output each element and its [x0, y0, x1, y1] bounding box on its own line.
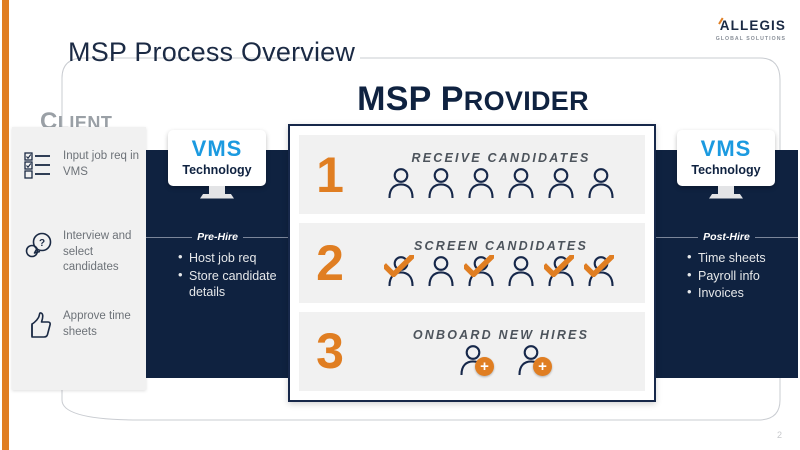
person-icon: [584, 167, 618, 198]
logo-name: ALLEGIS: [720, 18, 786, 33]
vms-title: VMS: [172, 138, 262, 160]
plus-badge-icon: +: [475, 357, 494, 376]
person-icon: [384, 255, 418, 286]
slide-canvas: MSP Process Overview ALLEGIS GLOBAL SOLU…: [0, 0, 800, 450]
step-number: 1: [299, 150, 361, 200]
msp-heading-msp: MSP: [357, 80, 441, 118]
person-icon: [464, 255, 498, 286]
client-card: Input job req in VMS ? Interview and sel…: [12, 127, 146, 390]
step-body: ONBOARD NEW HIRES ++: [361, 328, 645, 375]
person-icon: +: [456, 344, 488, 375]
person-icon: [424, 167, 458, 198]
vms-subtitle: Technology: [681, 164, 771, 177]
rule-left: [146, 237, 192, 238]
brand-logo: ALLEGIS GLOBAL SOLUTIONS: [716, 18, 786, 42]
people-row: [384, 167, 618, 198]
monitor-base-icon: [709, 194, 743, 199]
page-title: MSP Process Overview: [68, 37, 355, 68]
step-row-2: 2 SCREEN CANDIDATES: [299, 223, 645, 302]
step-title: SCREEN CANDIDATES: [414, 239, 588, 253]
logo-wordmark: ALLEGIS: [720, 19, 786, 33]
person-icon: [424, 255, 458, 286]
client-item-label: Interview and select candidates: [63, 229, 142, 276]
person-icon: [464, 167, 498, 198]
list-item: Store candidate details: [189, 268, 281, 301]
posthire-bullets: Time sheets Payroll info Invoices: [685, 250, 790, 303]
msp-steps-card: 1 RECEIVE CANDIDATES 2 SCREEN CANDIDATES…: [288, 124, 656, 402]
left-accent-bar: [2, 0, 9, 450]
vms-monitor-right: VMS Technology: [677, 130, 775, 199]
posthire-label-text: Post-Hire: [703, 231, 750, 243]
rule-left: [655, 237, 698, 238]
prehire-label: Pre-Hire: [146, 231, 289, 243]
person-icon: [584, 255, 618, 286]
monitor-neck-icon: [718, 186, 734, 194]
posthire-label: Post-Hire: [655, 231, 798, 243]
prehire-bullets: Host job req Store candidate details: [176, 250, 281, 302]
step-title: RECEIVE CANDIDATES: [412, 151, 591, 165]
client-item-interview-select: ? Interview and select candidates: [22, 229, 142, 276]
monitor-neck-icon: [209, 186, 225, 194]
rule-right: [755, 237, 798, 238]
step-number: 2: [299, 238, 361, 288]
monitor-base-icon: [200, 194, 234, 199]
thumbs-up-icon: [22, 309, 56, 339]
client-item-approve-timesheets: Approve time sheets: [22, 309, 142, 340]
vms-monitor-left: VMS Technology: [168, 130, 266, 199]
client-item-input-job-req: Input job req in VMS: [22, 149, 142, 180]
people-row: ++: [456, 344, 546, 375]
list-item: Host job req: [189, 250, 281, 267]
logo-tagline: GLOBAL SOLUTIONS: [716, 37, 786, 42]
step-row-1: 1 RECEIVE CANDIDATES: [299, 135, 645, 214]
checklist-icon: [22, 149, 56, 179]
vms-title: VMS: [681, 138, 771, 160]
person-icon: +: [514, 344, 546, 375]
client-item-label: Approve time sheets: [63, 309, 142, 340]
person-icon: [504, 255, 538, 286]
question-bubble-icon: ?: [22, 229, 56, 259]
msp-provider-heading: MSP PROVIDER: [288, 82, 658, 116]
person-icon: [384, 167, 418, 198]
list-item: Invoices: [698, 285, 790, 302]
msp-heading-rest: ROVIDER: [464, 86, 589, 116]
client-item-label: Input job req in VMS: [63, 149, 142, 180]
page-number: 2: [777, 430, 782, 440]
step-title: ONBOARD NEW HIRES: [413, 328, 589, 342]
plus-badge-icon: +: [533, 357, 552, 376]
step-number: 3: [299, 326, 361, 376]
msp-heading-p: P: [441, 80, 464, 118]
svg-text:?: ?: [39, 238, 45, 249]
rule-right: [243, 237, 289, 238]
prehire-label-text: Pre-Hire: [197, 231, 238, 243]
step-body: SCREEN CANDIDATES: [361, 239, 645, 286]
vms-screen: VMS Technology: [168, 130, 266, 186]
person-icon: [504, 167, 538, 198]
person-icon: [544, 255, 578, 286]
vms-subtitle: Technology: [172, 164, 262, 177]
step-body: RECEIVE CANDIDATES: [361, 151, 645, 198]
list-item: Time sheets: [698, 250, 790, 267]
person-icon: [544, 167, 578, 198]
list-item: Payroll info: [698, 268, 790, 285]
step-row-3: 3 ONBOARD NEW HIRES ++: [299, 312, 645, 391]
people-row: [384, 255, 618, 286]
vms-screen: VMS Technology: [677, 130, 775, 186]
